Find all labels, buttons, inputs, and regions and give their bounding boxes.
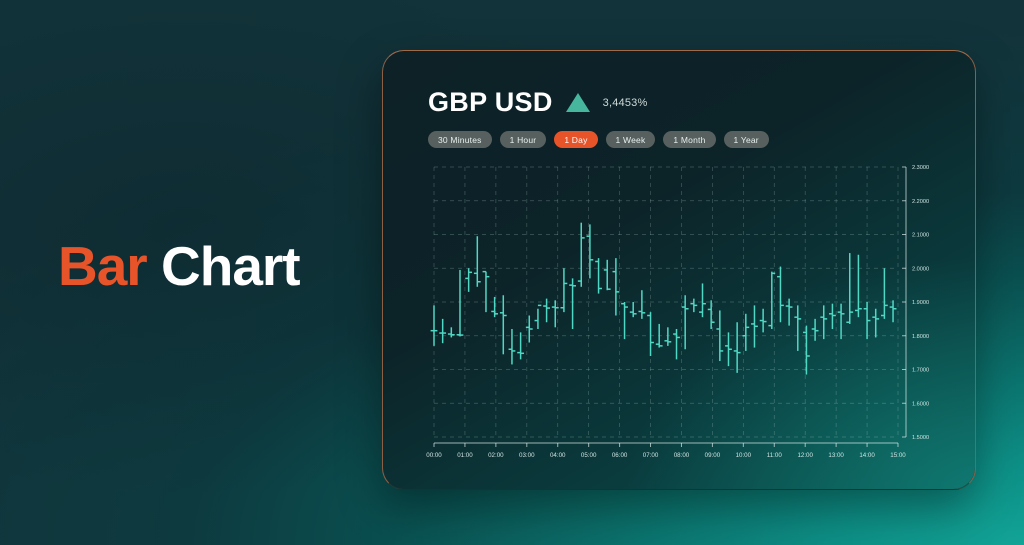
x-axis-tick-label: 00:00: [426, 452, 442, 459]
ohlc-bar[interactable]: [569, 278, 576, 329]
ohlc-bar[interactable]: [664, 327, 671, 346]
ohlc-bar[interactable]: [621, 302, 628, 339]
ohlc-bar[interactable]: [846, 253, 853, 324]
tab-1-year[interactable]: 1 Year: [724, 131, 769, 148]
ohlc-bar[interactable]: [786, 299, 793, 326]
ohlc-bar[interactable]: [699, 283, 706, 317]
y-axis-tick-label: 1.5000: [912, 435, 929, 441]
currency-pair-label: GBP USD: [428, 87, 553, 118]
y-axis: 2.30002.20002.10002.00001.90001.80001.70…: [902, 165, 929, 441]
x-axis-tick-label: 08:00: [674, 452, 690, 459]
tab-30-minutes[interactable]: 30 Minutes: [428, 131, 492, 148]
ohlc-bar[interactable]: [439, 319, 446, 343]
ohlc-bar[interactable]: [647, 312, 654, 356]
ohlc-bar[interactable]: [500, 295, 507, 354]
ohlc-bar[interactable]: [431, 305, 438, 346]
ohlc-bar[interactable]: [595, 258, 602, 293]
ohlc-bar[interactable]: [881, 268, 888, 319]
ohlc-bar[interactable]: [803, 326, 810, 375]
page-title: Bar Chart: [58, 238, 300, 296]
y-axis-tick-label: 1.7000: [912, 368, 929, 374]
ohlc-bar[interactable]: [604, 260, 611, 290]
ohlc-bar[interactable]: [890, 300, 897, 322]
tab-1-week[interactable]: 1 Week: [606, 131, 656, 148]
chart-card: GBP USD 3,4453% 30 Minutes1 Hour1 Day1 W…: [382, 50, 976, 490]
ohlc-bar[interactable]: [682, 295, 689, 349]
x-axis-tick-label: 13:00: [828, 452, 844, 459]
y-axis-tick-label: 2.2000: [912, 199, 929, 205]
card-header: GBP USD 3,4453%: [428, 87, 647, 118]
x-axis-tick-label: 01:00: [457, 452, 473, 459]
ohlc-bar[interactable]: [638, 290, 645, 319]
ohlc-bar[interactable]: [630, 302, 637, 317]
y-axis-tick-label: 2.1000: [912, 233, 929, 239]
page-title-word-chart: Chart: [161, 235, 300, 297]
ohlc-bar[interactable]: [829, 304, 836, 329]
x-axis-tick-label: 07:00: [643, 452, 659, 459]
tab-1-month[interactable]: 1 Month: [663, 131, 715, 148]
ohlc-bar[interactable]: [673, 329, 680, 359]
x-axis-tick-label: 06:00: [612, 452, 628, 459]
y-axis-tick-label: 1.6000: [912, 401, 929, 407]
ohlc-bar[interactable]: [491, 297, 498, 317]
ohlc-bar[interactable]: [509, 329, 516, 364]
x-axis-tick-label: 14:00: [859, 452, 875, 459]
ohlc-bar[interactable]: [465, 268, 472, 292]
ohlc-bar[interactable]: [725, 332, 732, 366]
y-axis-tick-label: 2.3000: [912, 165, 929, 171]
ohlc-bar[interactable]: [812, 319, 819, 341]
x-axis-tick-label: 04:00: [550, 452, 566, 459]
x-axis: 00:0001:0002:0003:0004:0005:0006:0007:00…: [426, 443, 906, 459]
ohlc-bar[interactable]: [708, 300, 715, 329]
ohlc-bar[interactable]: [820, 305, 827, 339]
x-axis-tick-label: 05:00: [581, 452, 597, 459]
ohlc-bar[interactable]: [864, 302, 871, 339]
ohlc-bar[interactable]: [760, 309, 767, 333]
ohlc-bar[interactable]: [457, 270, 464, 336]
ohlc-bar[interactable]: [612, 258, 619, 315]
page-title-word-bar: Bar: [58, 235, 147, 297]
ohlc-bar[interactable]: [734, 322, 741, 373]
ohlc-bar[interactable]: [535, 305, 542, 329]
ohlc-bar[interactable]: [483, 272, 490, 313]
tab-1-hour[interactable]: 1 Hour: [500, 131, 547, 148]
ohlc-bar[interactable]: [474, 236, 481, 287]
x-axis-tick-label: 11:00: [767, 452, 783, 459]
change-percent-label: 3,4453%: [603, 97, 648, 109]
ohlc-bar[interactable]: [578, 223, 585, 287]
ohlc-bar[interactable]: [587, 224, 594, 278]
ohlc-bar[interactable]: [794, 305, 801, 351]
x-axis-tick-label: 15:00: [890, 452, 906, 459]
ohlc-bar-series: [431, 223, 897, 375]
timeframe-tabs[interactable]: 30 Minutes1 Hour1 Day1 Week1 Month1 Year: [428, 131, 769, 148]
chart-svg: 2.30002.20002.10002.00001.90001.80001.70…: [416, 159, 944, 469]
x-axis-tick-label: 12:00: [797, 452, 813, 459]
ohlc-bar[interactable]: [872, 309, 879, 338]
ohlc-bar[interactable]: [517, 332, 524, 359]
ohlc-bar[interactable]: [777, 267, 784, 323]
ohlc-bar[interactable]: [561, 268, 568, 312]
x-axis-tick-label: 10:00: [736, 452, 752, 459]
triangle-up-icon: [566, 93, 590, 112]
ohlc-bar[interactable]: [751, 305, 758, 347]
y-axis-tick-label: 1.9000: [912, 300, 929, 306]
ohlc-bar[interactable]: [855, 255, 862, 317]
ohlc-chart[interactable]: 2.30002.20002.10002.00001.90001.80001.70…: [416, 159, 944, 469]
y-axis-tick-label: 1.8000: [912, 334, 929, 340]
x-axis-tick-label: 02:00: [488, 452, 504, 459]
x-axis-tick-label: 03:00: [519, 452, 535, 459]
ohlc-bar[interactable]: [838, 304, 845, 339]
x-axis-tick-label: 09:00: [705, 452, 721, 459]
page-root: Bar Chart GBP USD 3,4453% 30 Minutes1 Ho…: [0, 0, 1024, 545]
y-axis-tick-label: 2.0000: [912, 266, 929, 272]
ohlc-bar[interactable]: [690, 299, 697, 313]
tab-1-day[interactable]: 1 Day: [554, 131, 597, 148]
